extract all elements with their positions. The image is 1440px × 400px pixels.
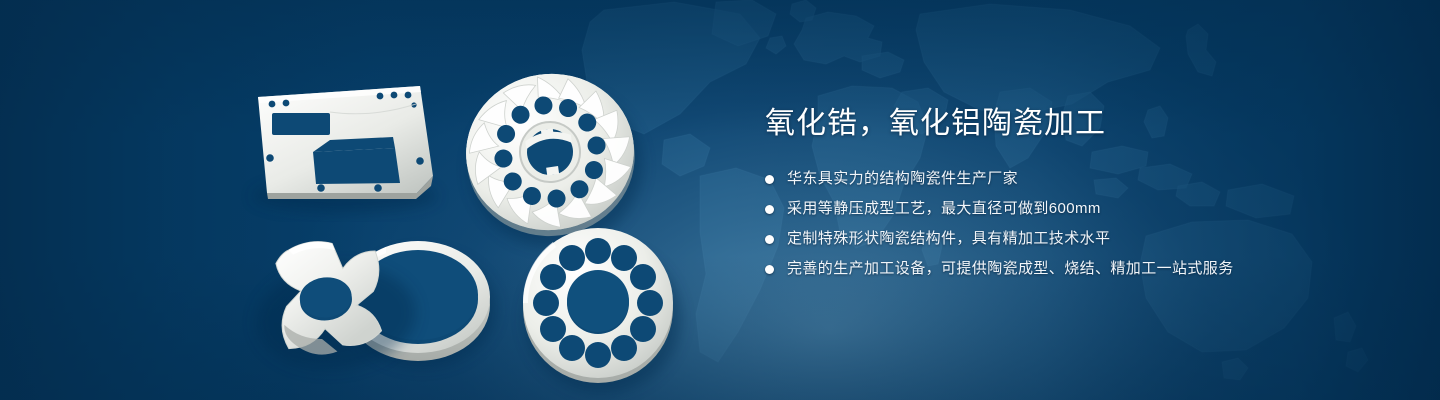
bullet-dot-icon xyxy=(765,205,774,214)
ceramic-hole-disc-graphic xyxy=(523,228,681,393)
product-photo-cluster xyxy=(0,0,720,400)
feature-item-label: 完善的生产加工设备，可提供陶瓷成型、烧结、精加工一站式服务 xyxy=(787,258,1234,280)
banner-headline: 氧化锆，氧化铝陶瓷加工 xyxy=(765,104,1385,144)
copy-block: 氧化锆，氧化铝陶瓷加工 华东具实力的结构陶瓷件生产厂家 采用等静压成型工艺，最大… xyxy=(765,104,1385,280)
bullet-dot-icon xyxy=(765,265,774,274)
feature-item-label: 华东具实力的结构陶瓷件生产厂家 xyxy=(787,168,1018,190)
ceramic-plate-graphic xyxy=(253,86,437,212)
feature-item: 完善的生产加工设备，可提供陶瓷成型、烧结、精加工一站式服务 xyxy=(765,258,1385,280)
promo-banner: 氧化锆，氧化铝陶瓷加工 华东具实力的结构陶瓷件生产厂家 采用等静压成型工艺，最大… xyxy=(0,0,1440,400)
bullet-dot-icon xyxy=(765,235,774,244)
feature-item: 采用等静压成型工艺，最大直径可做到600mm xyxy=(765,198,1385,220)
ceramic-impeller-graphic xyxy=(456,62,653,259)
feature-item: 定制特殊形状陶瓷结构件，具有精加工技术水平 xyxy=(765,228,1385,250)
bullet-dot-icon xyxy=(765,175,774,184)
feature-item: 华东具实力的结构陶瓷件生产厂家 xyxy=(765,168,1385,190)
feature-item-label: 采用等静压成型工艺，最大直径可做到600mm xyxy=(787,198,1101,220)
feature-list: 华东具实力的结构陶瓷件生产厂家 采用等静压成型工艺，最大直径可做到600mm 定… xyxy=(765,168,1385,280)
feature-item-label: 定制特殊形状陶瓷结构件，具有精加工技术水平 xyxy=(787,228,1110,250)
